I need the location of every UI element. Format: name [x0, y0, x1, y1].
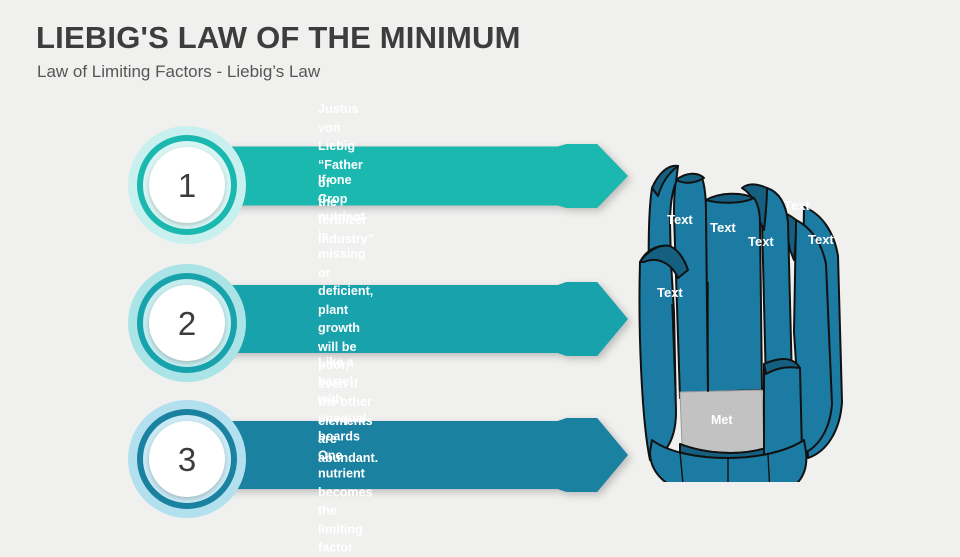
- ring-core-2: 2: [149, 285, 225, 361]
- page-title: LIEBIG'S LAW OF THE MINIMUM: [36, 20, 521, 56]
- banner-arrow-3: [188, 418, 628, 492]
- step-number-3: 3: [178, 443, 196, 476]
- step-number-1: 1: [178, 169, 196, 202]
- step-number-2: 2: [178, 307, 196, 340]
- ring-core-1: 1: [149, 147, 225, 223]
- barrel-stave-1: [639, 246, 676, 460]
- barrel-label-3: Text: [710, 220, 736, 235]
- banner-arrow-1: [188, 144, 628, 208]
- barrel-stave-5: [762, 188, 792, 384]
- slide: LIEBIG'S LAW OF THE MINIMUM Law of Limit…: [0, 0, 960, 540]
- banner-1: [188, 144, 628, 208]
- banner-shape-1: [188, 144, 628, 208]
- barrel-label-met: Met: [711, 413, 733, 427]
- banner-3: [188, 418, 628, 492]
- barrel-stave-4-top: [706, 194, 754, 203]
- step-circle-2[interactable]: 2: [128, 264, 246, 382]
- barrel-label-2: Text: [667, 212, 693, 227]
- barrel-label-6: Text: [808, 232, 834, 247]
- barrel-illustration: Text Text Text Text Text Text Met: [636, 152, 866, 482]
- banner-2: [188, 282, 628, 356]
- step-circle-1[interactable]: 1: [128, 126, 246, 244]
- list-item-text-3: Like a barrel with unequal boards One nu…: [318, 353, 373, 557]
- barrel-label-1: Text: [657, 285, 683, 300]
- banner-shape-2: [188, 282, 628, 356]
- banner-shape-3: [188, 418, 628, 492]
- barrel-label-4: Text: [748, 234, 774, 249]
- barrel-label-5: Text: [784, 198, 810, 213]
- banner-arrow-2: [188, 282, 628, 356]
- ring-core-3: 3: [149, 421, 225, 497]
- page-subtitle: Law of Limiting Factors - Liebig’s Law: [37, 62, 320, 82]
- step-circle-3[interactable]: 3: [128, 400, 246, 518]
- barrel-svg: Text Text Text Text Text Text Met: [636, 152, 866, 482]
